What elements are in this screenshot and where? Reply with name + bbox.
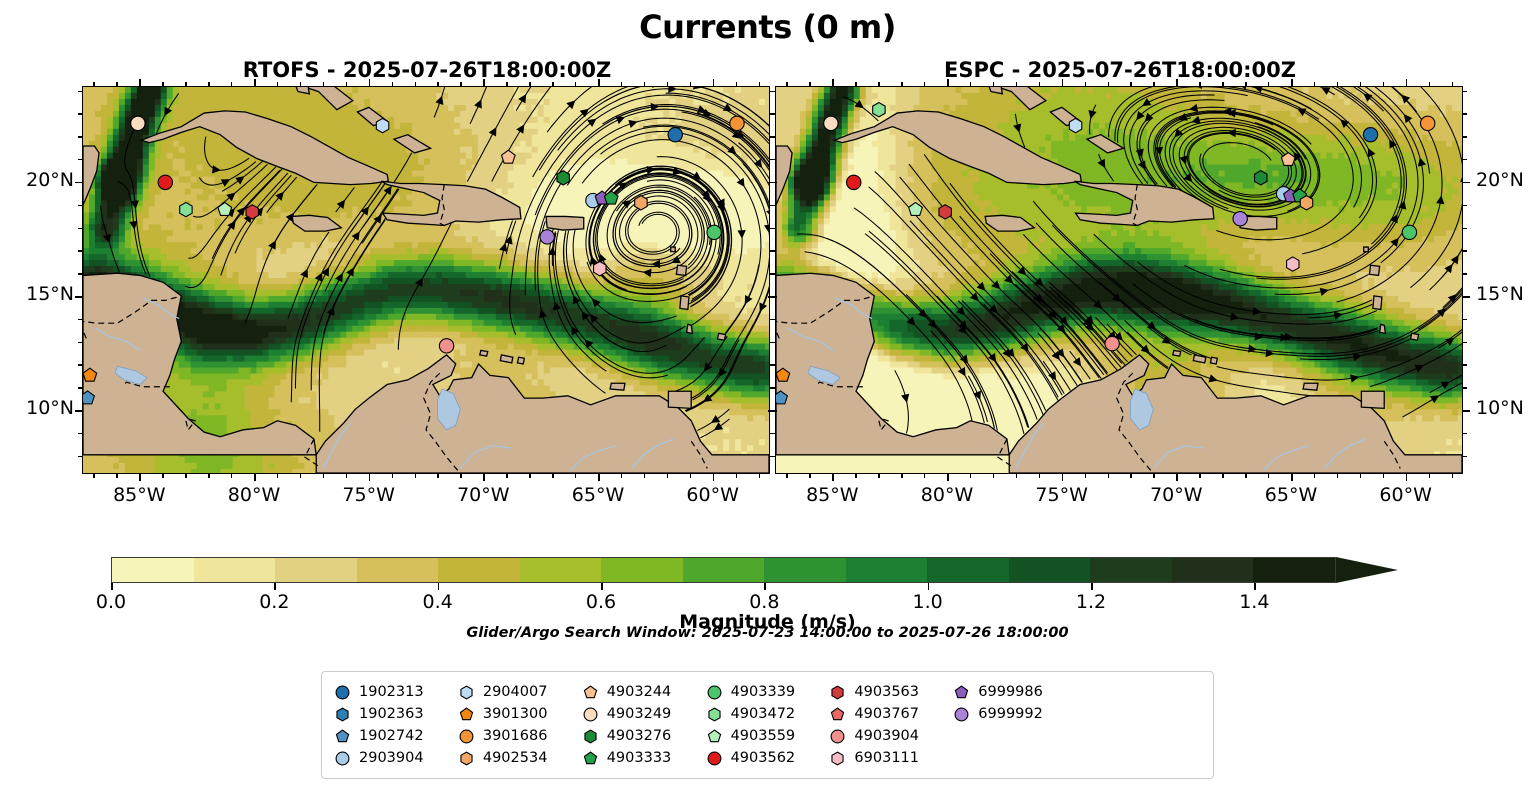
legend-item-4903472[interactable]: 4903472 xyxy=(706,706,830,723)
x-tick-left xyxy=(552,474,553,478)
x-tick-left xyxy=(460,474,461,478)
x-tick-right xyxy=(1337,474,1338,478)
y-axis-label-left: 15°N xyxy=(0,283,74,305)
map-panel-espc[interactable] xyxy=(775,86,1463,474)
y-tick-right-right xyxy=(1463,273,1467,274)
y-tick-left xyxy=(78,364,82,365)
float-marker-4903563[interactable] xyxy=(246,205,258,219)
x-tick-top-right xyxy=(1268,82,1269,86)
colorbar-band-10 xyxy=(927,558,1009,582)
legend-marker-pentagon-icon xyxy=(458,706,475,723)
legend-item-1902742[interactable]: 1902742 xyxy=(334,728,458,745)
legend-item-4903563[interactable]: 4903563 xyxy=(829,684,953,701)
x-tick-top-left xyxy=(736,82,737,86)
y-tick-left xyxy=(78,433,82,434)
float-marker-4903562[interactable] xyxy=(847,175,861,189)
colorbar-band-1 xyxy=(194,558,276,582)
y-tick-right xyxy=(771,228,775,229)
x-tick-top-left xyxy=(346,82,347,86)
colorbar-band-11 xyxy=(1009,558,1091,582)
y-tick-left xyxy=(75,410,82,412)
y-tick-left xyxy=(78,159,82,160)
x-tick-top-right xyxy=(786,82,787,86)
legend-item-4903904[interactable]: 4903904 xyxy=(829,728,953,745)
colorbar-extend-arrow xyxy=(1336,557,1398,583)
x-axis-label: 85°W xyxy=(787,484,877,506)
x-tick-top-right xyxy=(809,82,810,86)
x-tick-top-left xyxy=(231,82,232,86)
x-tick-top-left xyxy=(93,82,94,86)
legend-label: 1902313 xyxy=(359,684,424,700)
colorbar-band-6 xyxy=(601,558,683,582)
x-tick-top-right xyxy=(901,82,902,86)
float-marker-4902534[interactable] xyxy=(635,196,647,210)
legend-item-4903244[interactable]: 4903244 xyxy=(582,684,706,701)
y-tick-right-right xyxy=(1463,296,1470,298)
legend-label: 4903339 xyxy=(731,684,796,700)
float-marker-6999992[interactable] xyxy=(540,230,554,244)
legend-marker-pentagon-icon xyxy=(706,728,723,745)
y-axis-label-left: 10°N xyxy=(0,397,74,419)
x-tick-right xyxy=(878,474,879,478)
x-tick-right xyxy=(947,474,949,481)
legend-marker-circle-icon xyxy=(706,750,723,767)
x-axis-label: 70°W xyxy=(438,484,528,506)
colorbar-band-8 xyxy=(764,558,846,582)
float-marker-4903563[interactable] xyxy=(939,205,951,219)
y-tick-right xyxy=(771,387,775,388)
x-tick-top-left xyxy=(300,82,301,86)
x-tick-top-left xyxy=(460,82,461,86)
x-tick-top-right xyxy=(1406,79,1408,86)
x-tick-right xyxy=(1153,474,1154,478)
x-tick-right xyxy=(1429,474,1430,478)
x-tick-top-left xyxy=(323,82,324,86)
y-tick-left xyxy=(75,296,82,298)
x-tick-right xyxy=(786,474,787,478)
float-marker-4903472[interactable] xyxy=(873,103,885,117)
x-tick-top-left xyxy=(437,82,438,86)
colorbar xyxy=(111,557,1451,583)
x-tick-top-right xyxy=(1383,82,1384,86)
x-tick-right xyxy=(1039,474,1040,478)
float-marker-4903339[interactable] xyxy=(707,225,721,239)
x-tick-right xyxy=(970,474,971,478)
x-tick-right xyxy=(1199,474,1200,478)
x-tick-right xyxy=(1406,474,1408,481)
x-tick-top-right xyxy=(924,82,925,86)
x-tick-right xyxy=(1452,474,1453,478)
x-tick-top-right xyxy=(1199,82,1200,86)
legend-marker-pentagon-icon xyxy=(953,684,970,701)
x-tick-top-left xyxy=(759,82,760,86)
legend-item-4903249[interactable]: 4903249 xyxy=(582,706,706,723)
x-tick-right xyxy=(1108,474,1109,478)
legend-label: 4902534 xyxy=(483,750,548,766)
panel-title-rtofs: RTOFS - 2025-07-26T18:00:00Z xyxy=(82,58,772,82)
float-marker-4903562[interactable] xyxy=(158,175,172,189)
legend-marker-hexagon-icon xyxy=(334,706,351,723)
legend-label: 4903562 xyxy=(731,750,796,766)
colorbar-tick xyxy=(111,583,113,590)
x-tick-top-right xyxy=(1108,82,1109,86)
float-marker-4903472[interactable] xyxy=(180,202,192,216)
x-tick-top-right xyxy=(1452,82,1453,86)
legend-label: 6999992 xyxy=(978,706,1043,722)
legend-item-4903562[interactable]: 4903562 xyxy=(706,750,830,767)
colorbar-band-12 xyxy=(1090,558,1172,582)
y-tick-right-right xyxy=(1463,205,1467,206)
y-tick-right xyxy=(771,159,775,160)
legend-item-2904007[interactable]: 2904007 xyxy=(458,684,582,701)
colorbar-tick xyxy=(764,583,766,590)
x-tick-top-right xyxy=(1176,79,1178,86)
x-tick-left xyxy=(644,474,645,478)
legend-marker-hexagon-icon xyxy=(829,750,846,767)
y-axis-label-right: 15°N xyxy=(1476,283,1535,305)
legend-item-2903904[interactable]: 2903904 xyxy=(334,750,458,767)
legend-item-4903276[interactable]: 4903276 xyxy=(582,728,706,745)
y-tick-right-right xyxy=(1463,364,1467,365)
x-tick-right xyxy=(1130,474,1131,478)
colorbar-tick-label: 1.2 xyxy=(1046,591,1136,613)
legend-marker-hexagon-icon xyxy=(582,728,599,745)
x-axis-label: 60°W xyxy=(1361,484,1451,506)
x-tick-top-right xyxy=(1062,79,1064,86)
x-tick-top-left xyxy=(713,79,715,86)
x-axis-label: 60°W xyxy=(668,484,758,506)
legend-label: 4903563 xyxy=(854,684,919,700)
float-marker-4903249[interactable] xyxy=(131,116,145,130)
x-tick-right xyxy=(1383,474,1384,478)
x-tick-top-right xyxy=(1314,82,1315,86)
y-axis-label-right: 20°N xyxy=(1476,169,1535,191)
map-render-left xyxy=(83,87,769,473)
legend-label: 4903244 xyxy=(607,684,672,700)
colorbar-tick-label: 0.4 xyxy=(393,591,483,613)
x-tick-left xyxy=(208,474,209,478)
float-legend[interactable]: 1902313 2904007 4903244 4903339 4903563 … xyxy=(321,671,1214,779)
x-tick-top-right xyxy=(1130,82,1131,86)
x-tick-left xyxy=(300,474,301,478)
legend-label: 4903767 xyxy=(854,706,919,722)
y-tick-left xyxy=(78,136,82,137)
x-tick-top-left xyxy=(575,82,576,86)
legend-label: 4903333 xyxy=(607,750,672,766)
x-tick-right xyxy=(1291,474,1293,481)
x-tick-left xyxy=(277,474,278,478)
x-tick-top-left xyxy=(529,82,530,86)
x-axis-label: 80°W xyxy=(209,484,299,506)
legend-marker-hexagon-icon xyxy=(458,750,475,767)
legend-label: 4903559 xyxy=(731,728,796,744)
y-tick-left xyxy=(78,228,82,229)
colorbar-band-2 xyxy=(275,558,357,582)
x-tick-top-right xyxy=(970,82,971,86)
x-tick-top-left xyxy=(254,79,256,86)
x-tick-top-right xyxy=(878,82,879,86)
colorbar-tick-label: 1.4 xyxy=(1209,591,1299,613)
legend-label: 4903276 xyxy=(607,728,672,744)
x-tick-top-right xyxy=(993,82,994,86)
x-tick-left xyxy=(713,474,715,481)
legend-item-1902313[interactable]: 1902313 xyxy=(334,684,458,701)
legend-item-4903333[interactable]: 4903333 xyxy=(582,750,706,767)
colorbar-tick xyxy=(1091,583,1093,590)
search-window-text: Glider/Argo Search Window: 2025-07-23 14… xyxy=(0,625,1535,641)
x-tick-top-right xyxy=(1016,82,1017,86)
x-tick-left xyxy=(759,474,760,478)
legend-item-6903111[interactable]: 6903111 xyxy=(829,750,953,767)
legend-marker-pentagon-icon xyxy=(582,750,599,767)
x-tick-left xyxy=(162,474,163,478)
legend-label: 2904007 xyxy=(483,684,548,700)
colorbar-tick-label: 0.6 xyxy=(556,591,646,613)
float-marker-4903276[interactable] xyxy=(1255,171,1267,185)
x-tick-top-right xyxy=(1039,82,1040,86)
x-tick-left xyxy=(598,474,600,481)
y-tick-left xyxy=(78,319,82,320)
x-tick-right xyxy=(832,474,834,481)
legend-marker-circle-icon xyxy=(582,706,599,723)
legend-item-4902534[interactable]: 4902534 xyxy=(458,750,582,767)
colorbar-band-0 xyxy=(112,558,194,582)
legend-item-4903339[interactable]: 4903339 xyxy=(706,684,830,701)
colorbar-band-13 xyxy=(1172,558,1254,582)
legend-item-4903767[interactable]: 4903767 xyxy=(829,706,953,723)
map-render-right xyxy=(776,87,1462,473)
legend-label: 3901300 xyxy=(483,706,548,722)
legend-item-4903559[interactable]: 4903559 xyxy=(706,728,830,745)
x-axis-label: 75°W xyxy=(1017,484,1107,506)
y-tick-left xyxy=(78,456,82,457)
x-tick-right xyxy=(1016,474,1017,478)
x-tick-top-left xyxy=(598,79,600,86)
float-marker-4903339[interactable] xyxy=(1402,225,1416,239)
colorbar-band-3 xyxy=(357,558,439,582)
y-tick-right xyxy=(768,410,775,412)
x-tick-top-left xyxy=(644,82,645,86)
float-marker-2904007[interactable] xyxy=(376,118,388,132)
legend-label: 1902742 xyxy=(359,728,424,744)
y-tick-right-right xyxy=(1463,159,1467,160)
x-tick-left xyxy=(736,474,737,478)
x-tick-top-left xyxy=(277,82,278,86)
y-tick-right-right xyxy=(1463,319,1467,320)
legend-marker-circle-icon xyxy=(829,728,846,745)
x-tick-top-left xyxy=(667,82,668,86)
x-tick-top-left xyxy=(415,82,416,86)
y-tick-left xyxy=(78,387,82,388)
y-tick-right xyxy=(771,136,775,137)
panel-title-espc: ESPC - 2025-07-26T18:00:00Z xyxy=(775,58,1465,82)
x-tick-top-right xyxy=(1360,82,1361,86)
x-axis-label: 80°W xyxy=(902,484,992,506)
colorbar-tick-label: 0.2 xyxy=(229,591,319,613)
x-tick-top-left xyxy=(185,82,186,86)
colorbar-band-14 xyxy=(1253,558,1335,582)
x-tick-top-left xyxy=(208,82,209,86)
x-tick-top-left xyxy=(483,79,485,86)
x-axis-label: 75°W xyxy=(324,484,414,506)
x-tick-right xyxy=(1360,474,1361,478)
x-axis-label: 65°W xyxy=(1246,484,1336,506)
y-tick-right xyxy=(771,250,775,251)
x-tick-top-right xyxy=(1222,82,1223,86)
y-axis-label-right: 10°N xyxy=(1476,397,1535,419)
legend-label: 2903904 xyxy=(359,750,424,766)
colorbar-tick xyxy=(928,583,930,590)
x-tick-left xyxy=(506,474,507,478)
y-axis-label-left: 20°N xyxy=(0,169,74,191)
legend-marker-hexagon-icon xyxy=(458,684,475,701)
map-panel-rtofs[interactable] xyxy=(82,86,770,474)
colorbar-tick-label: 1.0 xyxy=(883,591,973,613)
legend-label: 4903904 xyxy=(854,728,919,744)
x-tick-right xyxy=(1314,474,1315,478)
y-tick-right xyxy=(771,91,775,92)
y-tick-right-right xyxy=(1463,113,1467,114)
x-tick-left xyxy=(415,474,416,478)
legend-marker-circle-icon xyxy=(334,684,351,701)
y-tick-left xyxy=(78,205,82,206)
float-marker-3901686[interactable] xyxy=(730,116,744,130)
y-tick-right-right xyxy=(1463,182,1470,184)
y-tick-left xyxy=(78,342,82,343)
y-tick-right-right xyxy=(1463,91,1467,92)
colorbar-tick xyxy=(601,583,603,590)
y-tick-right xyxy=(771,342,775,343)
x-tick-left xyxy=(139,474,141,481)
x-tick-top-left xyxy=(506,82,507,86)
float-marker-4903904[interactable] xyxy=(439,339,453,353)
x-tick-top-right xyxy=(1085,82,1086,86)
float-marker-4902534[interactable] xyxy=(1300,196,1312,210)
x-tick-top-left xyxy=(392,82,393,86)
x-tick-left xyxy=(323,474,324,478)
x-tick-top-right xyxy=(947,79,949,86)
x-tick-right xyxy=(1062,474,1064,481)
float-marker-4903249[interactable] xyxy=(824,116,838,130)
legend-item-1902363[interactable]: 1902363 xyxy=(334,706,458,723)
y-tick-right-right xyxy=(1463,342,1467,343)
y-tick-right-right xyxy=(1463,228,1467,229)
colorbar-gradient xyxy=(111,557,1336,583)
x-tick-top-left xyxy=(139,79,141,86)
legend-marker-hexagon-icon xyxy=(829,684,846,701)
colorbar-tick xyxy=(438,583,440,590)
y-tick-left xyxy=(75,182,82,184)
x-tick-left xyxy=(369,474,371,481)
x-tick-top-right xyxy=(832,79,834,86)
float-marker-6999992[interactable] xyxy=(1233,212,1247,226)
x-tick-right xyxy=(1085,474,1086,478)
x-tick-left xyxy=(231,474,232,478)
float-marker-6903111[interactable] xyxy=(594,261,606,275)
x-axis-label: 70°W xyxy=(1131,484,1221,506)
colorbar-tick-label: 0.8 xyxy=(719,591,809,613)
x-tick-top-right xyxy=(1337,82,1338,86)
x-tick-top-right xyxy=(1291,79,1293,86)
y-tick-right xyxy=(771,433,775,434)
x-tick-right xyxy=(901,474,902,478)
x-tick-left xyxy=(346,474,347,478)
legend-item-3901300[interactable]: 3901300 xyxy=(458,706,582,723)
colorbar-band-5 xyxy=(520,558,602,582)
float-marker-1902313[interactable] xyxy=(1363,128,1377,142)
x-tick-right xyxy=(1268,474,1269,478)
float-marker-6903111[interactable] xyxy=(1287,257,1299,271)
x-tick-left xyxy=(93,474,94,478)
legend-label: 6903111 xyxy=(854,750,919,766)
y-tick-right-right xyxy=(1463,410,1470,412)
x-tick-right xyxy=(855,474,856,478)
figure-title: Currents (0 m) xyxy=(0,8,1535,46)
float-marker-3901686[interactable] xyxy=(1421,116,1435,130)
x-tick-right xyxy=(924,474,925,478)
float-marker-4903904[interactable] xyxy=(1105,336,1119,350)
x-tick-top-right xyxy=(1153,82,1154,86)
colorbar-band-4 xyxy=(438,558,520,582)
x-tick-left xyxy=(483,474,485,481)
legend-label: 4903472 xyxy=(731,706,796,722)
y-tick-right xyxy=(771,113,775,114)
colorbar-tick xyxy=(274,583,276,590)
x-tick-left xyxy=(690,474,691,478)
legend-marker-circle-icon xyxy=(953,706,970,723)
x-tick-top-left xyxy=(116,82,117,86)
x-tick-left xyxy=(185,474,186,478)
float-marker-2904007[interactable] xyxy=(1069,118,1081,132)
x-axis-label: 85°W xyxy=(94,484,184,506)
float-marker-1902313[interactable] xyxy=(668,128,682,142)
legend-marker-circle-icon xyxy=(458,728,475,745)
y-tick-right-right xyxy=(1463,136,1467,137)
y-tick-left xyxy=(78,113,82,114)
x-tick-top-left xyxy=(162,82,163,86)
legend-marker-circle-icon xyxy=(334,750,351,767)
legend-label: 3901686 xyxy=(483,728,548,744)
legend-item-6999986[interactable]: 6999986 xyxy=(953,684,1077,701)
legend-marker-pentagon-icon xyxy=(334,728,351,745)
y-tick-right-right xyxy=(1463,250,1467,251)
x-tick-right xyxy=(993,474,994,478)
x-tick-left xyxy=(667,474,668,478)
x-tick-top-left xyxy=(552,82,553,86)
float-marker-4903276[interactable] xyxy=(557,171,569,185)
x-tick-right xyxy=(809,474,810,478)
colorbar-tick xyxy=(1254,583,1256,590)
legend-item-3901686[interactable]: 3901686 xyxy=(458,728,582,745)
y-tick-left xyxy=(78,91,82,92)
legend-item-6999992[interactable]: 6999992 xyxy=(953,706,1077,723)
x-tick-top-right xyxy=(1245,82,1246,86)
colorbar-band-9 xyxy=(846,558,928,582)
colorbar-band-7 xyxy=(683,558,765,582)
legend-marker-pentagon-icon xyxy=(582,684,599,701)
x-tick-left xyxy=(529,474,530,478)
x-tick-left xyxy=(621,474,622,478)
x-axis-label: 65°W xyxy=(553,484,643,506)
x-tick-left xyxy=(575,474,576,478)
x-tick-top-right xyxy=(855,82,856,86)
x-tick-right xyxy=(1176,474,1178,481)
y-tick-right-right xyxy=(1463,387,1467,388)
y-tick-right xyxy=(771,205,775,206)
legend-label: 6999986 xyxy=(978,684,1043,700)
legend-label: 1902363 xyxy=(359,706,424,722)
y-tick-left xyxy=(78,250,82,251)
